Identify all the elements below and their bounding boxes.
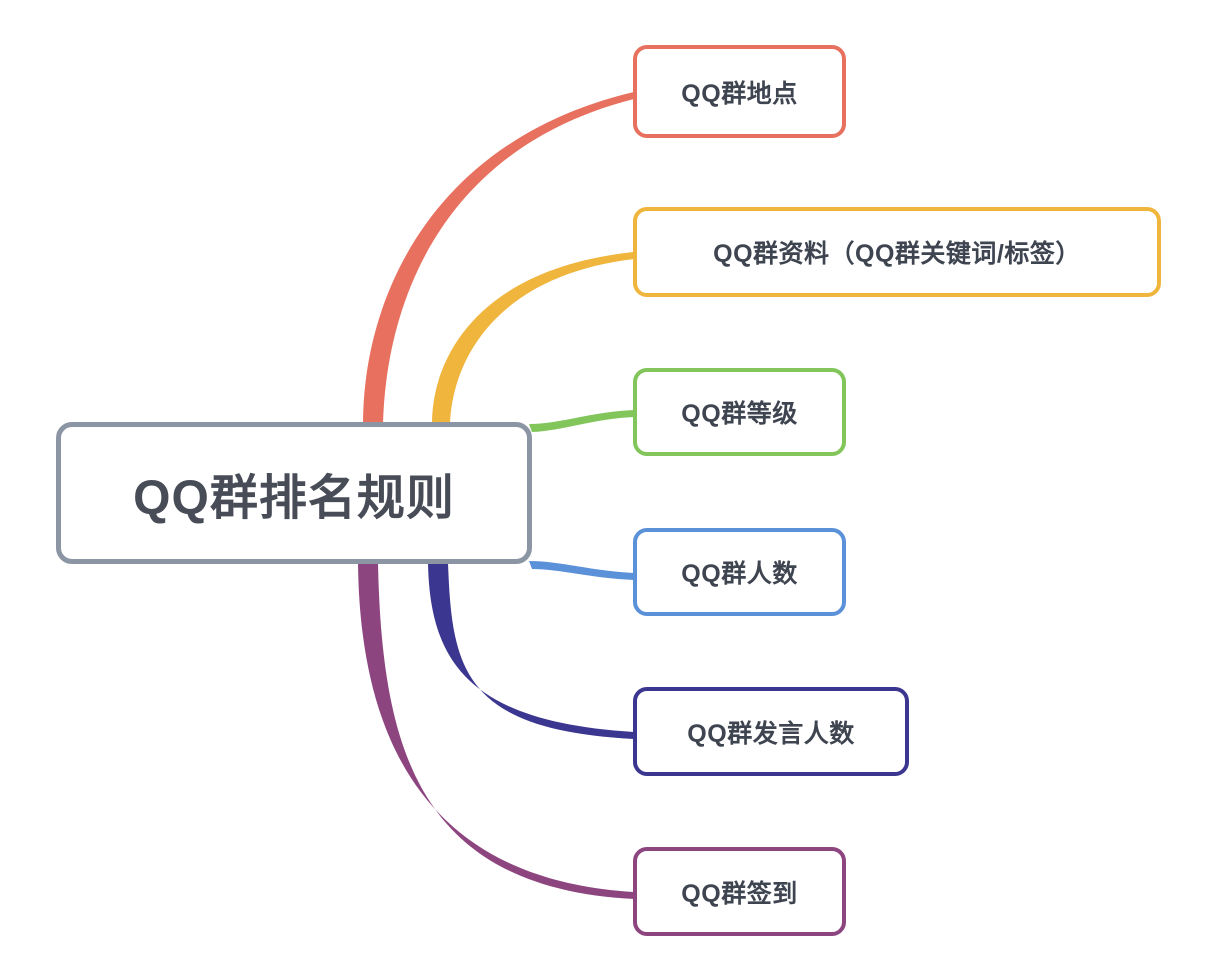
central-node-qq-group-ranking-rules[interactable]: QQ群排名规则 <box>56 422 532 564</box>
branch-node-label-qq-group-checkin: QQ群签到 <box>681 874 797 910</box>
branch-node-label-qq-group-speaker-count: QQ群发言人数 <box>687 714 854 750</box>
connector-qq-group-profile <box>432 252 634 424</box>
connector-qq-group-checkin <box>358 563 634 899</box>
branch-node-qq-group-checkin[interactable]: QQ群签到 <box>633 847 846 936</box>
branch-node-qq-group-member-count[interactable]: QQ群人数 <box>633 528 846 616</box>
connector-qq-group-level <box>529 410 634 432</box>
central-node-label: QQ群排名规则 <box>133 458 455 528</box>
branch-node-label-qq-group-profile: QQ群资料（QQ群关键词/标签） <box>713 234 1081 270</box>
connector-qq-group-location <box>363 92 634 424</box>
branch-node-qq-group-level[interactable]: QQ群等级 <box>633 368 846 456</box>
branch-node-qq-group-profile[interactable]: QQ群资料（QQ群关键词/标签） <box>633 207 1161 297</box>
branch-node-qq-group-speaker-count[interactable]: QQ群发言人数 <box>633 687 909 776</box>
connector-qq-group-speaker-count <box>428 563 634 739</box>
branch-node-label-qq-group-level: QQ群等级 <box>681 394 797 430</box>
connector-qq-group-member-count <box>529 561 634 580</box>
branch-node-qq-group-location[interactable]: QQ群地点 <box>633 45 846 138</box>
branch-node-label-qq-group-location: QQ群地点 <box>681 74 797 110</box>
branch-node-label-qq-group-member-count: QQ群人数 <box>681 554 797 590</box>
mindmap-canvas: QQ群排名规则 QQ群地点 QQ群资料（QQ群关键词/标签） QQ群等级 QQ群… <box>0 0 1210 958</box>
